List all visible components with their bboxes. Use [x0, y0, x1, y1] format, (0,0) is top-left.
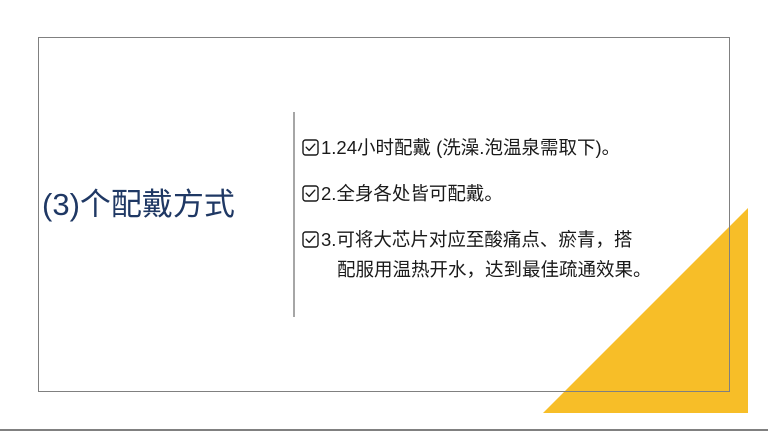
checklist: 1.24小时配戴 (洗澡.泡温泉需取下)。 2.全身各处皆可配戴。 3.可将大芯…	[302, 133, 714, 285]
checkbox-checked-icon	[302, 185, 319, 202]
list-item: 1.24小时配戴 (洗澡.泡温泉需取下)。	[302, 133, 714, 163]
vertical-divider	[293, 112, 295, 317]
list-item-label-line1: 3.可将大芯片对应至酸痛点、瘀青，搭	[321, 229, 632, 250]
bottom-divider-rule	[0, 429, 768, 431]
checkbox-checked-icon	[302, 139, 319, 156]
list-item-label: 1.24小时配戴 (洗澡.泡温泉需取下)。	[321, 133, 714, 163]
slide-canvas: (3)个配戴方式 1.24小时配戴 (洗澡.泡温泉需取下)。 2.全身各处皆可配…	[0, 0, 768, 434]
list-item-label-line2: 配服用温热开水，达到最佳疏通效果。	[321, 255, 714, 285]
list-item-label: 2.全身各处皆可配戴。	[321, 179, 714, 209]
list-item-label: 3.可将大芯片对应至酸痛点、瘀青，搭 配服用温热开水，达到最佳疏通效果。	[321, 225, 714, 285]
page-title: (3)个配戴方式	[42, 186, 288, 224]
list-item: 2.全身各处皆可配戴。	[302, 179, 714, 209]
checkbox-checked-icon	[302, 231, 319, 248]
list-item: 3.可将大芯片对应至酸痛点、瘀青，搭 配服用温热开水，达到最佳疏通效果。	[302, 225, 714, 285]
